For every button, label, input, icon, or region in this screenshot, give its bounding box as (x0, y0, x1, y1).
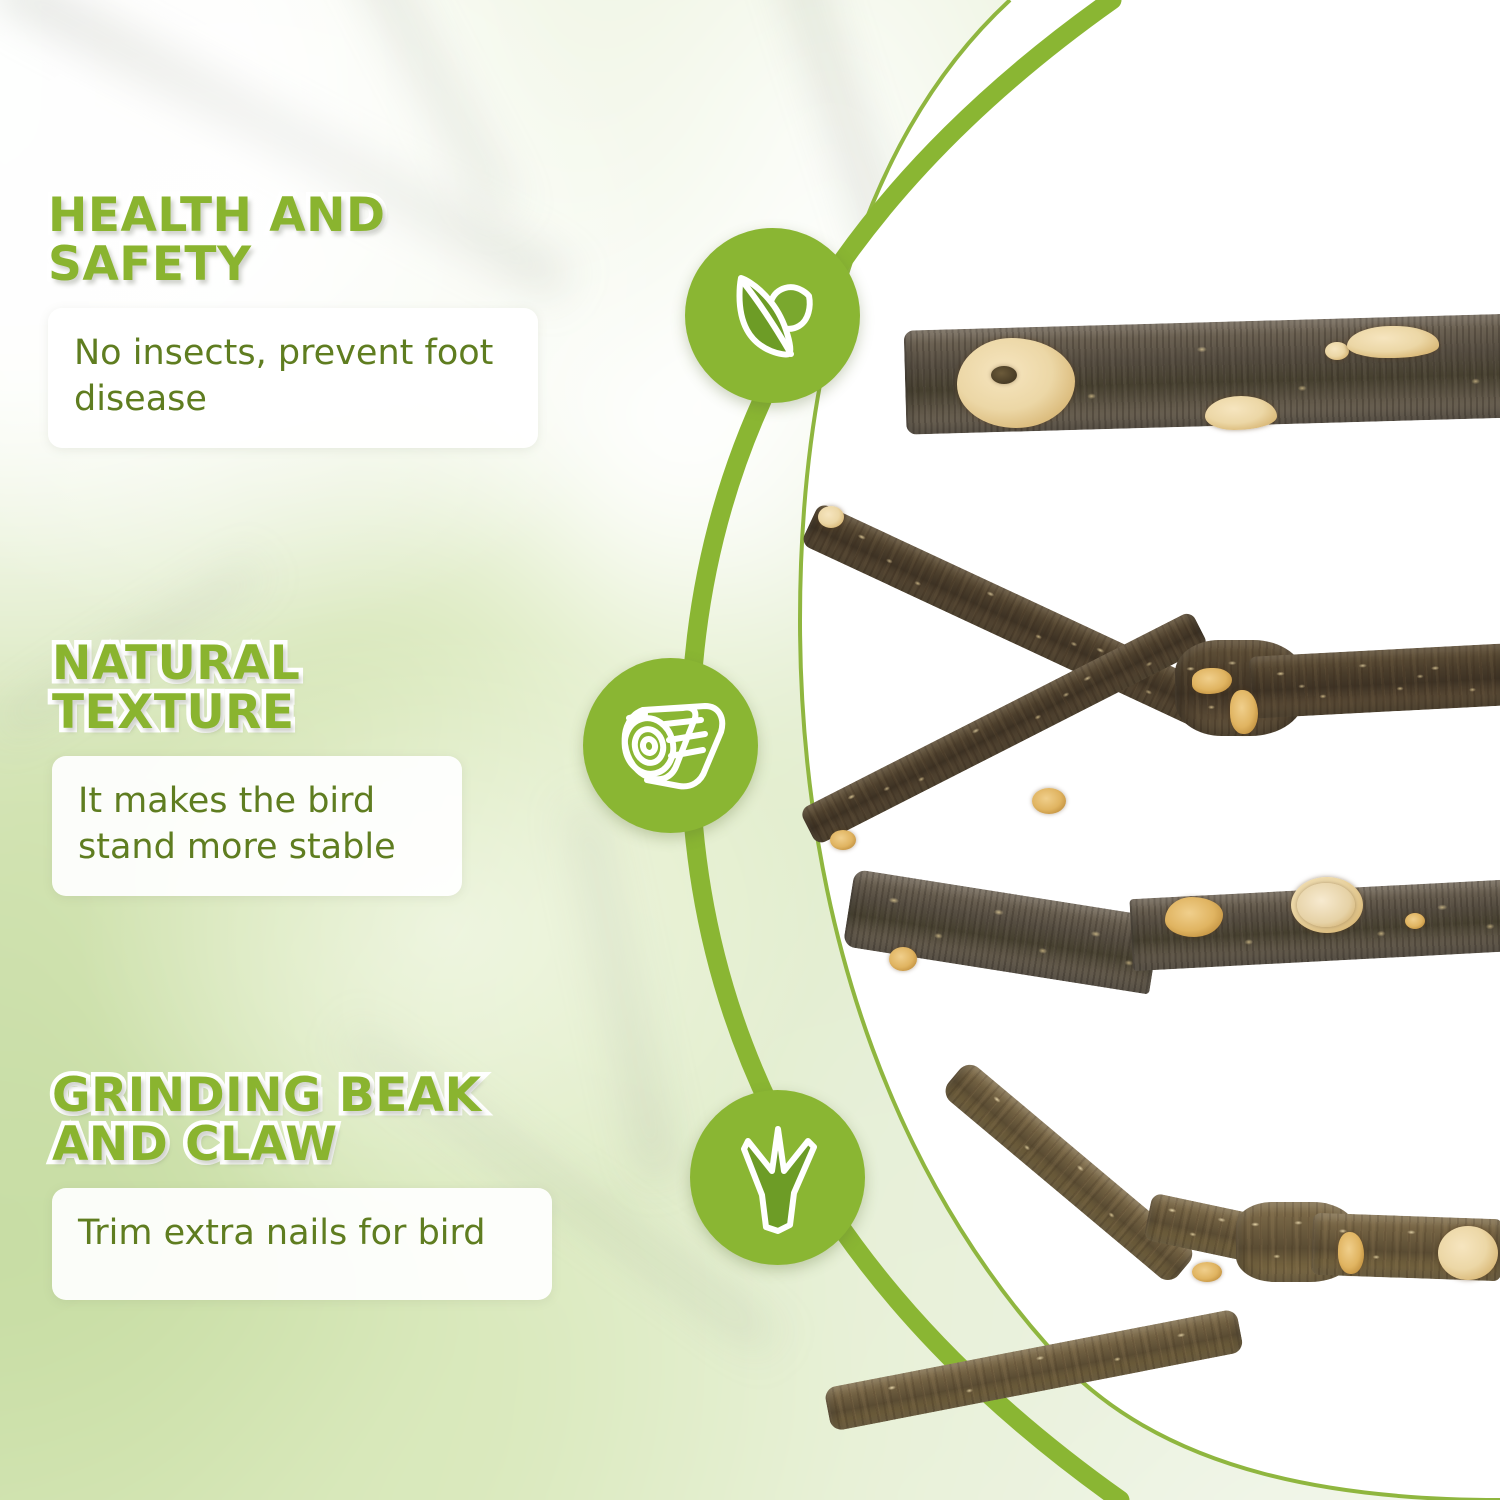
feature-description-card: It makes the bird stand more stable (52, 756, 462, 896)
infographic-canvas: HEALTH AND SAFETY No insects, prevent fo… (0, 0, 1500, 1500)
feature-description: No insects, prevent foot disease (74, 330, 512, 422)
feature-title: NATURAL TEXTURE (52, 640, 462, 738)
feature-health-and-safety: HEALTH AND SAFETY No insects, prevent fo… (48, 192, 538, 448)
branch-thick-log (905, 300, 1500, 470)
branch-curved (845, 855, 1500, 1045)
feature-title: GRINDING BEAK AND CLAW (52, 1072, 552, 1170)
feature-description: It makes the bird stand more stable (78, 778, 436, 870)
log-icon (609, 684, 733, 808)
feature-description-card: No insects, prevent foot disease (48, 308, 538, 448)
bird-footprint-icon (722, 1119, 834, 1237)
leaf-icon (713, 256, 833, 376)
feature-description: Trim extra nails for bird (78, 1210, 526, 1256)
feature-grinding-beak-and-claw: GRINDING BEAK AND CLAW Trim extra nails … (52, 1072, 552, 1300)
branch-y-fork-bottom (940, 1040, 1500, 1340)
feature-natural-texture: NATURAL TEXTURE It makes the bird stand … (52, 640, 462, 896)
branch-y-fork-top (800, 490, 1500, 870)
badge-health-and-safety[interactable] (685, 228, 860, 403)
feature-description-card: Trim extra nails for bird (52, 1188, 552, 1300)
badge-grinding-beak-and-claw[interactable] (690, 1090, 865, 1265)
badge-natural-texture[interactable] (583, 658, 758, 833)
feature-title: HEALTH AND SAFETY (48, 192, 538, 290)
